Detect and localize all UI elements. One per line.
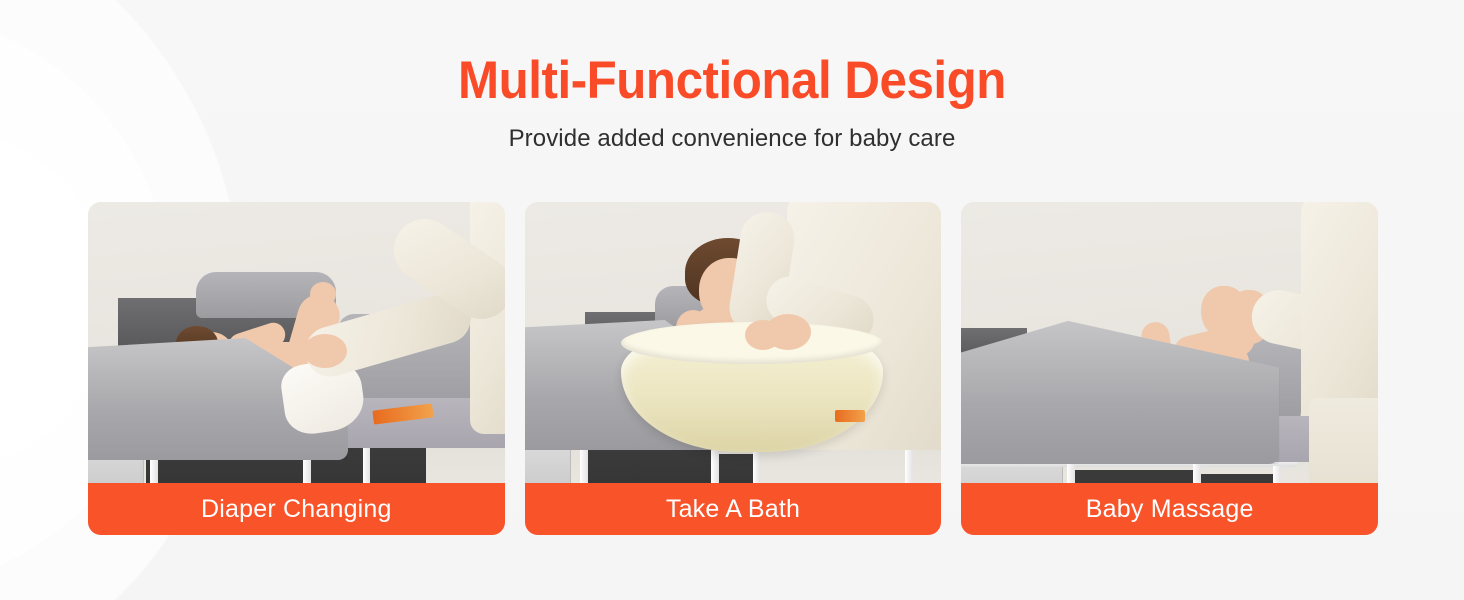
card-caption: Diaper Changing	[88, 483, 505, 535]
feature-card-baby-massage[interactable]: Baby Massage	[961, 202, 1378, 535]
feature-card-take-a-bath[interactable]: Take A Bath	[525, 202, 942, 535]
header: Multi-Functional Design Provide added co…	[0, 0, 1464, 154]
promo-banner: Multi-Functional Design Provide added co…	[0, 0, 1464, 600]
page-subtitle: Provide added convenience for baby care	[0, 110, 1464, 154]
page-title: Multi-Functional Design	[51, 0, 1413, 110]
photo-adult-hand	[765, 314, 811, 350]
card-caption: Take A Bath	[525, 483, 942, 535]
photo-adult-body	[1301, 202, 1378, 416]
photo-orange-label	[835, 410, 865, 422]
photo-baby-foot	[310, 282, 336, 306]
card-caption: Baby Massage	[961, 483, 1378, 535]
feature-card-list: Diaper Changing	[88, 202, 1378, 535]
photo-adult-hand	[303, 334, 347, 368]
feature-card-diaper-changing[interactable]: Diaper Changing	[88, 202, 505, 535]
